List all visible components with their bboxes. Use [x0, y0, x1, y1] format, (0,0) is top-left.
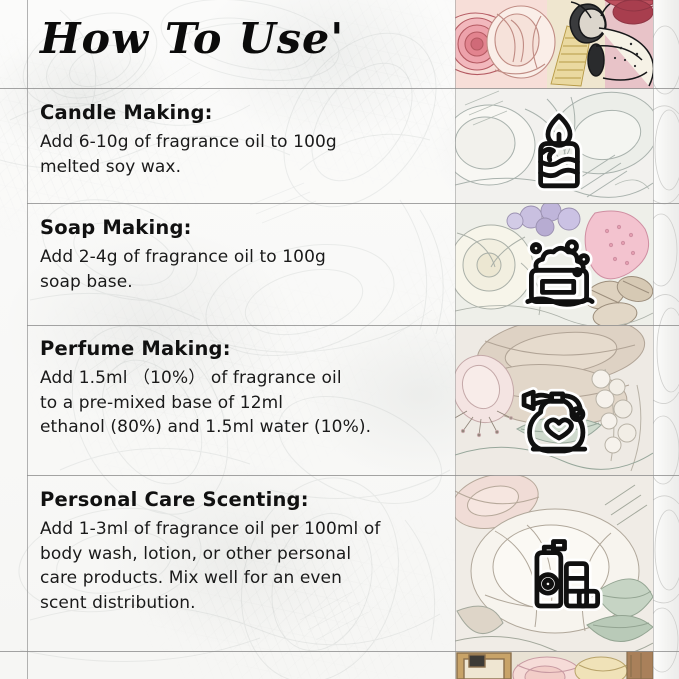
divider-4: [27, 475, 679, 476]
section-body-perfume-making: Add 1.5ml （10%） of fragrance oil to a pr…: [40, 366, 440, 440]
section-perfume-making: Perfume Making: Add 1.5ml （10%） of fragr…: [40, 337, 440, 440]
section-heading-candle-making: Candle Making:: [40, 101, 440, 124]
decor-band-top: [455, 0, 653, 89]
section-candle-making: Candle Making: Add 6-10g of fragrance oi…: [40, 101, 440, 179]
soap-bar-bubbles-icon: [513, 228, 605, 320]
section-soap-making: Soap Making: Add 2-4g of fragrance oil t…: [40, 216, 440, 294]
divider-3: [27, 325, 679, 326]
section-heading-perfume-making: Perfume Making:: [40, 337, 440, 360]
page-title: How To Use': [40, 14, 344, 63]
section-heading-personal-care-scenting: Personal Care Scenting:: [40, 488, 460, 511]
section-personal-care-scenting: Personal Care Scenting: Add 1-3ml of fra…: [40, 488, 460, 616]
divider-2: [27, 203, 679, 204]
section-body-soap-making: Add 2-4g of fragrance oil to 100g soap b…: [40, 245, 440, 294]
section-heading-soap-making: Soap Making:: [40, 216, 440, 239]
decor-band-bottom: [455, 651, 653, 679]
left-margin-rule: [27, 0, 28, 679]
cosmetic-bottles-icon: [513, 525, 605, 617]
divider-1: [0, 88, 679, 89]
divider-5: [0, 651, 679, 652]
section-body-candle-making: Add 6-10g of fragrance oil to 100g melte…: [40, 130, 440, 179]
how-to-use-infographic: How To Use' Candle Making: Add 6-10g of …: [0, 0, 679, 679]
section-body-personal-care-scenting: Add 1-3ml of fragrance oil per 100ml of …: [40, 517, 460, 616]
candle-icon: [513, 103, 605, 195]
perfume-atomizer-icon: [513, 370, 605, 462]
strip-right-rule: [653, 0, 654, 679]
right-edge-texture: [653, 0, 679, 679]
